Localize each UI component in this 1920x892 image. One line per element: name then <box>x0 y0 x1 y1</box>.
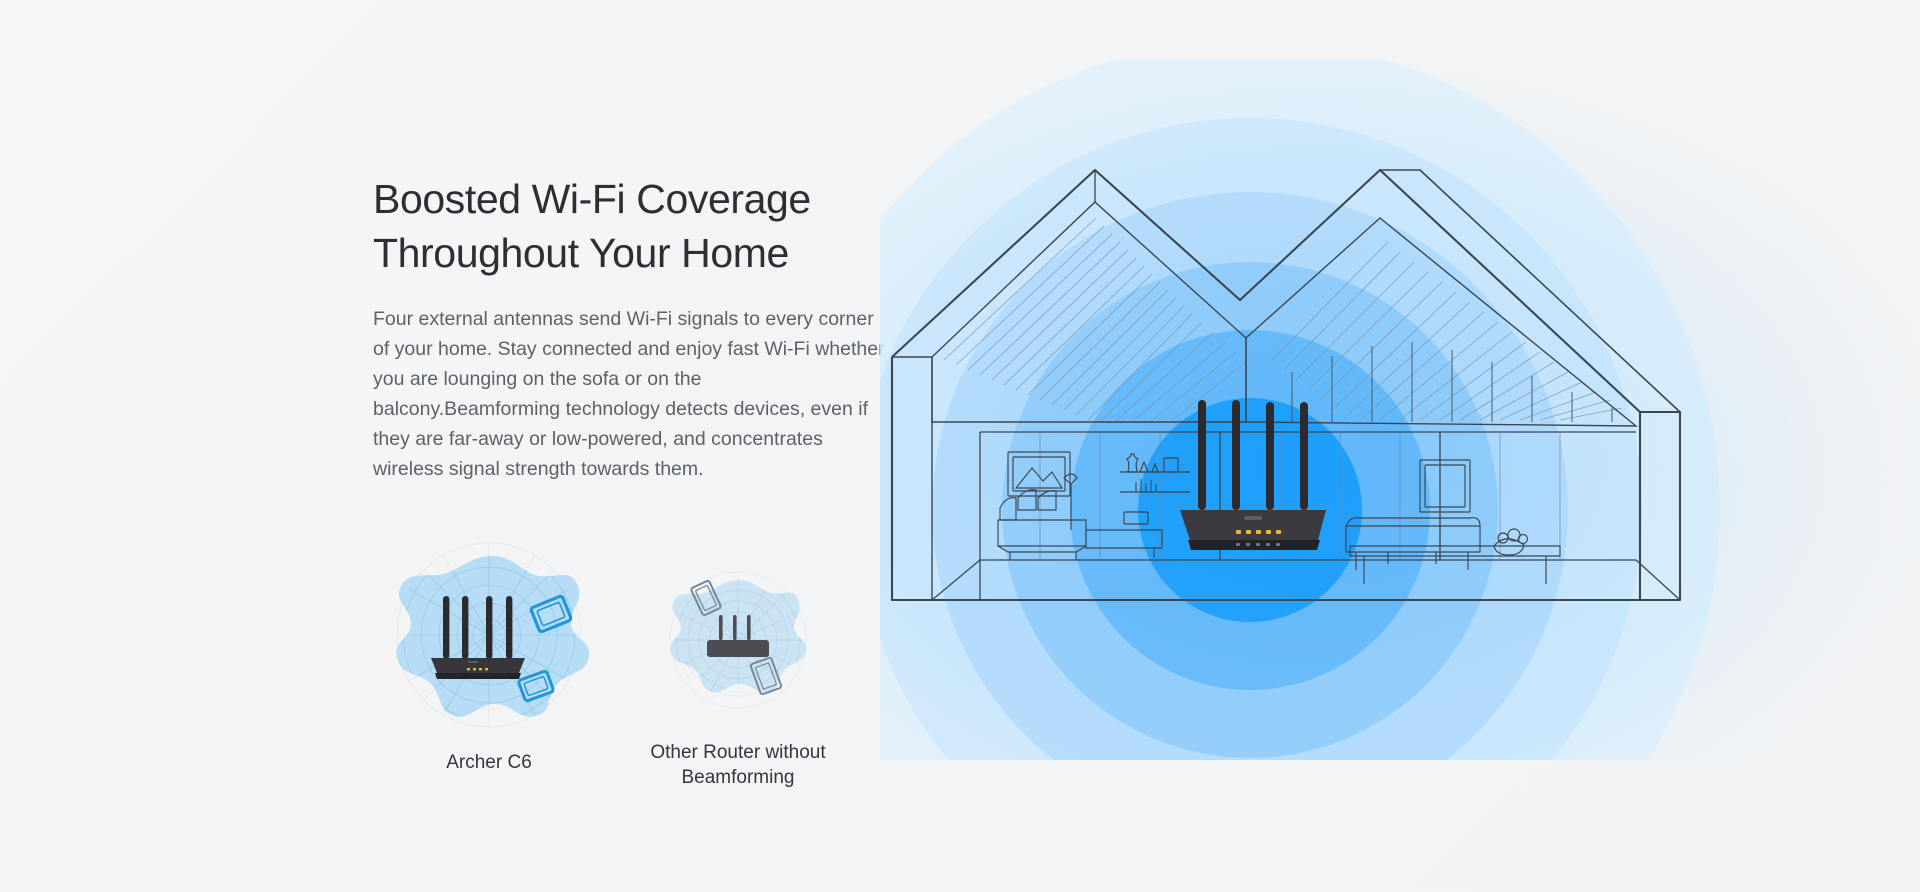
coverage-blob <box>396 556 589 717</box>
archer-c6-coverage-diagram <box>373 540 605 730</box>
page-root: Boosted Wi-Fi Coverage Throughout Your H… <box>0 0 1920 892</box>
house-coverage-illustration <box>880 60 1920 760</box>
hero-copy-block: Boosted Wi-Fi Coverage Throughout Your H… <box>373 172 898 484</box>
comparison-item-other-router: Other Router without Beamforming <box>623 568 853 790</box>
comparison-label: Other Router without Beamforming <box>623 740 853 790</box>
comparison-label: Archer C6 <box>373 750 605 775</box>
comparison-item-archer-c6: Archer C6 <box>373 540 605 775</box>
hero-description: Four external antennas send Wi-Fi signal… <box>373 304 893 484</box>
coverage-blob <box>671 580 807 693</box>
beamforming-comparison: Archer C6 <box>373 540 903 810</box>
other-router-coverage-diagram <box>623 568 853 718</box>
page-title: Boosted Wi-Fi Coverage Throughout Your H… <box>373 172 898 280</box>
